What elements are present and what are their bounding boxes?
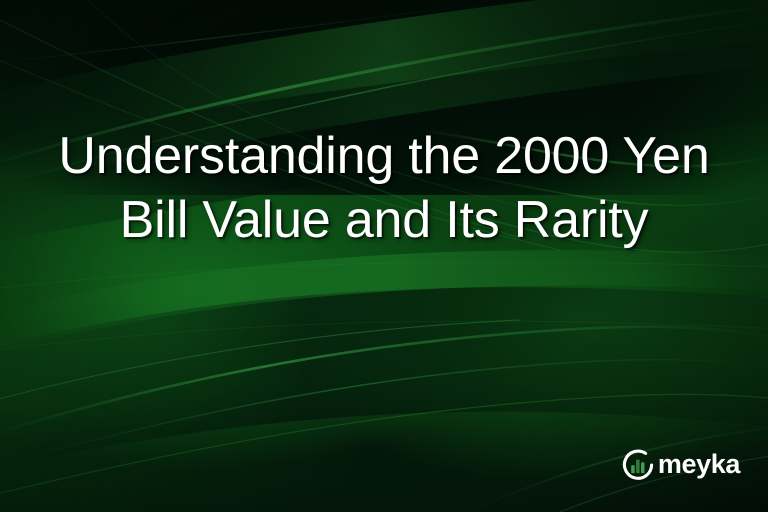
title-card: Understanding the 2000 Yen Bill Value an… <box>0 0 768 512</box>
title-line-2: Bill Value and Its Rarity <box>34 188 734 252</box>
title-line-1: Understanding the 2000 Yen <box>34 124 734 188</box>
meyka-logo[interactable]: meyka <box>621 448 740 482</box>
page-title: Understanding the 2000 Yen Bill Value an… <box>0 124 768 252</box>
meyka-ring-bars-icon <box>621 448 655 482</box>
background-vignette <box>0 0 768 512</box>
meyka-wordmark: meyka <box>658 451 740 479</box>
